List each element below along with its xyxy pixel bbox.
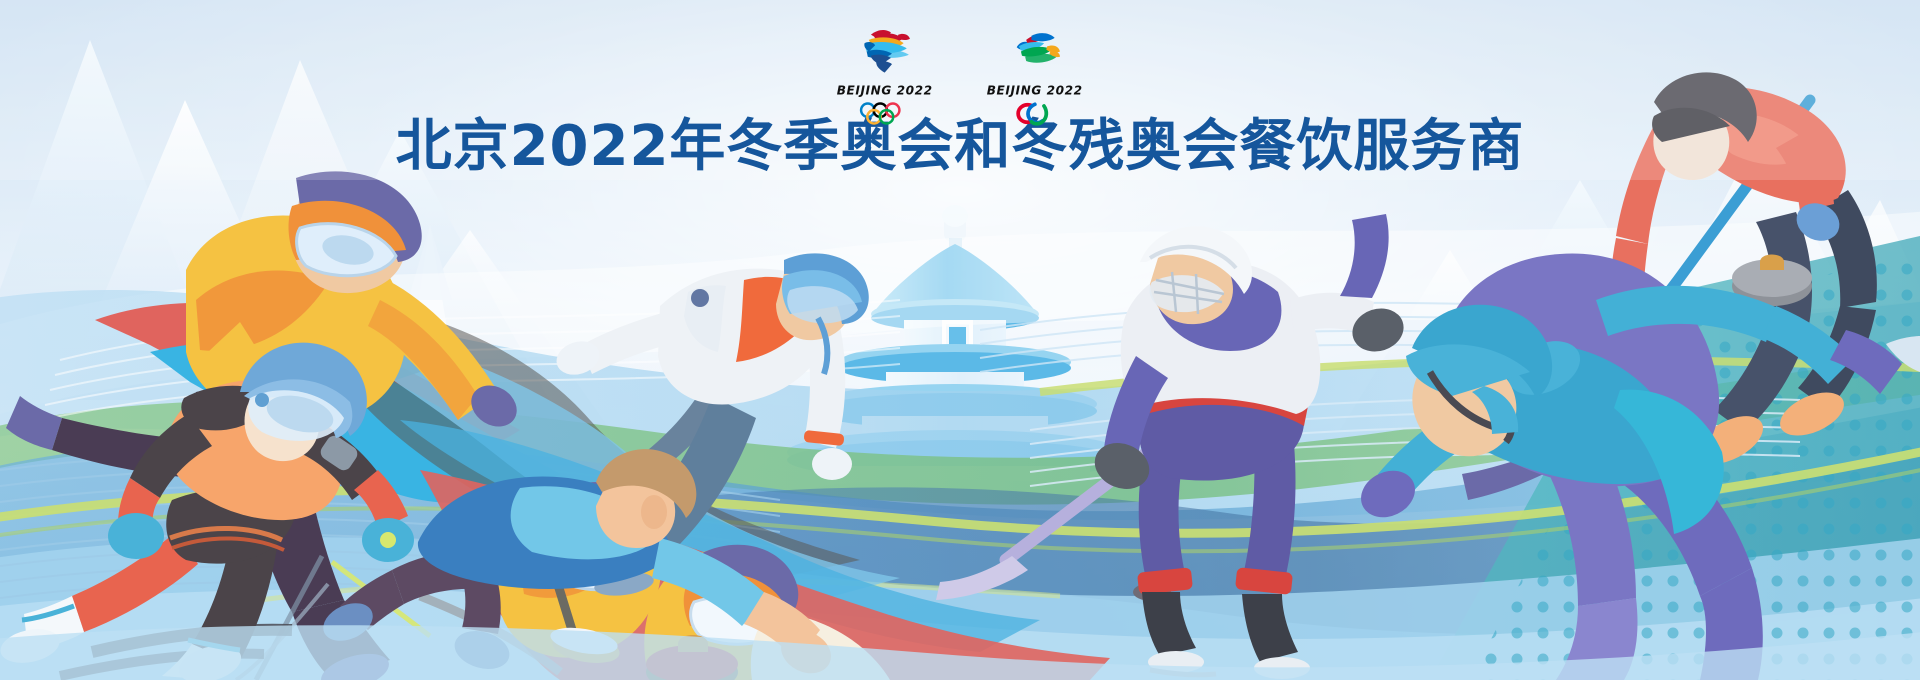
olympic-rings-icon bbox=[854, 101, 917, 126]
olympic-wordmark: BEIJING 2022 bbox=[827, 83, 942, 98]
olympic-emblem-icon bbox=[853, 22, 916, 80]
emblem-group: BEIJING 2022 bbox=[0, 22, 1920, 126]
svg-text:BEIJING 2022: BEIJING 2022 bbox=[837, 84, 933, 98]
agitos-icon bbox=[1004, 101, 1067, 126]
paralympic-wordmark: BEIJING 2022 bbox=[977, 83, 1092, 98]
paralympic-emblem-icon bbox=[1003, 22, 1066, 80]
olympic-emblem: BEIJING 2022 bbox=[833, 22, 937, 126]
svg-text:BEIJING 2022: BEIJING 2022 bbox=[987, 84, 1083, 98]
beijing-2022-catering-banner: BEIJING 2022 bbox=[0, 0, 1920, 680]
paralympic-emblem: BEIJING 2022 bbox=[983, 22, 1087, 126]
